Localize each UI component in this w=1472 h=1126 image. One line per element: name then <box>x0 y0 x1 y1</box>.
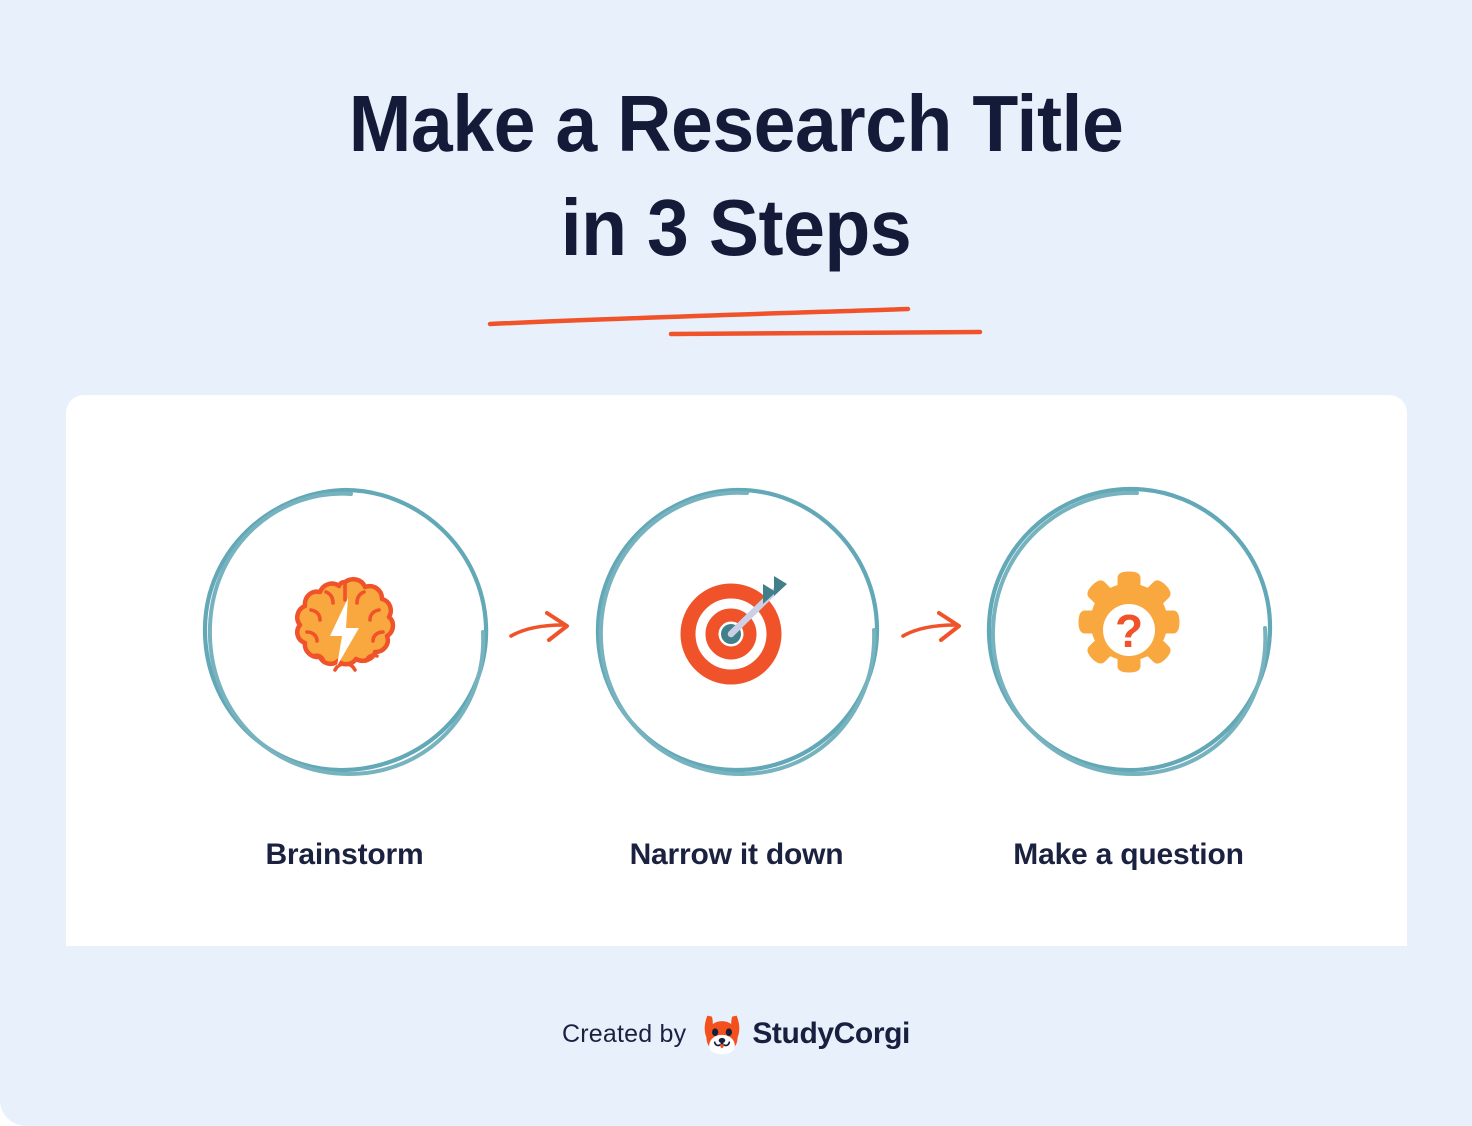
step-narrow-it-down[interactable]: Narrow it down <box>587 395 887 872</box>
step-make-a-question[interactable]: ? Make a question <box>979 395 1279 872</box>
page-title: Make a Research Title in 3 Steps <box>0 72 1472 280</box>
connector-1 <box>495 480 587 780</box>
step-brainstorm[interactable]: Brainstorm <box>195 395 495 872</box>
arrow-right-icon <box>505 608 577 652</box>
gear-question-icon: ? <box>1069 570 1189 690</box>
corgi-face-icon <box>700 1012 744 1056</box>
title-underline-doodle <box>0 296 1472 356</box>
step-2-label: Narrow it down <box>630 838 844 872</box>
step-1-label: Brainstorm <box>265 838 423 872</box>
title-line-1: Make a Research Title <box>44 72 1428 176</box>
step-2-circle <box>587 480 887 780</box>
brand-name: StudyCorgi <box>752 1017 910 1051</box>
footer-credit: Created by StudyCorgi <box>0 1012 1472 1056</box>
target-icon <box>677 570 797 690</box>
connector-2 <box>887 480 979 780</box>
svg-text:?: ? <box>1114 605 1142 657</box>
created-by-label: Created by <box>562 1020 686 1049</box>
arrow-right-icon <box>897 608 969 652</box>
steps-card: Brainstorm <box>66 395 1407 946</box>
step-3-label: Make a question <box>1013 838 1243 872</box>
steps-row: Brainstorm <box>66 395 1407 946</box>
step-3-circle: ? <box>979 480 1279 780</box>
brain-icon <box>285 570 405 690</box>
infographic-canvas: Make a Research Title in 3 Steps <box>0 0 1472 1126</box>
title-line-2: in 3 Steps <box>44 176 1428 280</box>
step-1-circle <box>195 480 495 780</box>
